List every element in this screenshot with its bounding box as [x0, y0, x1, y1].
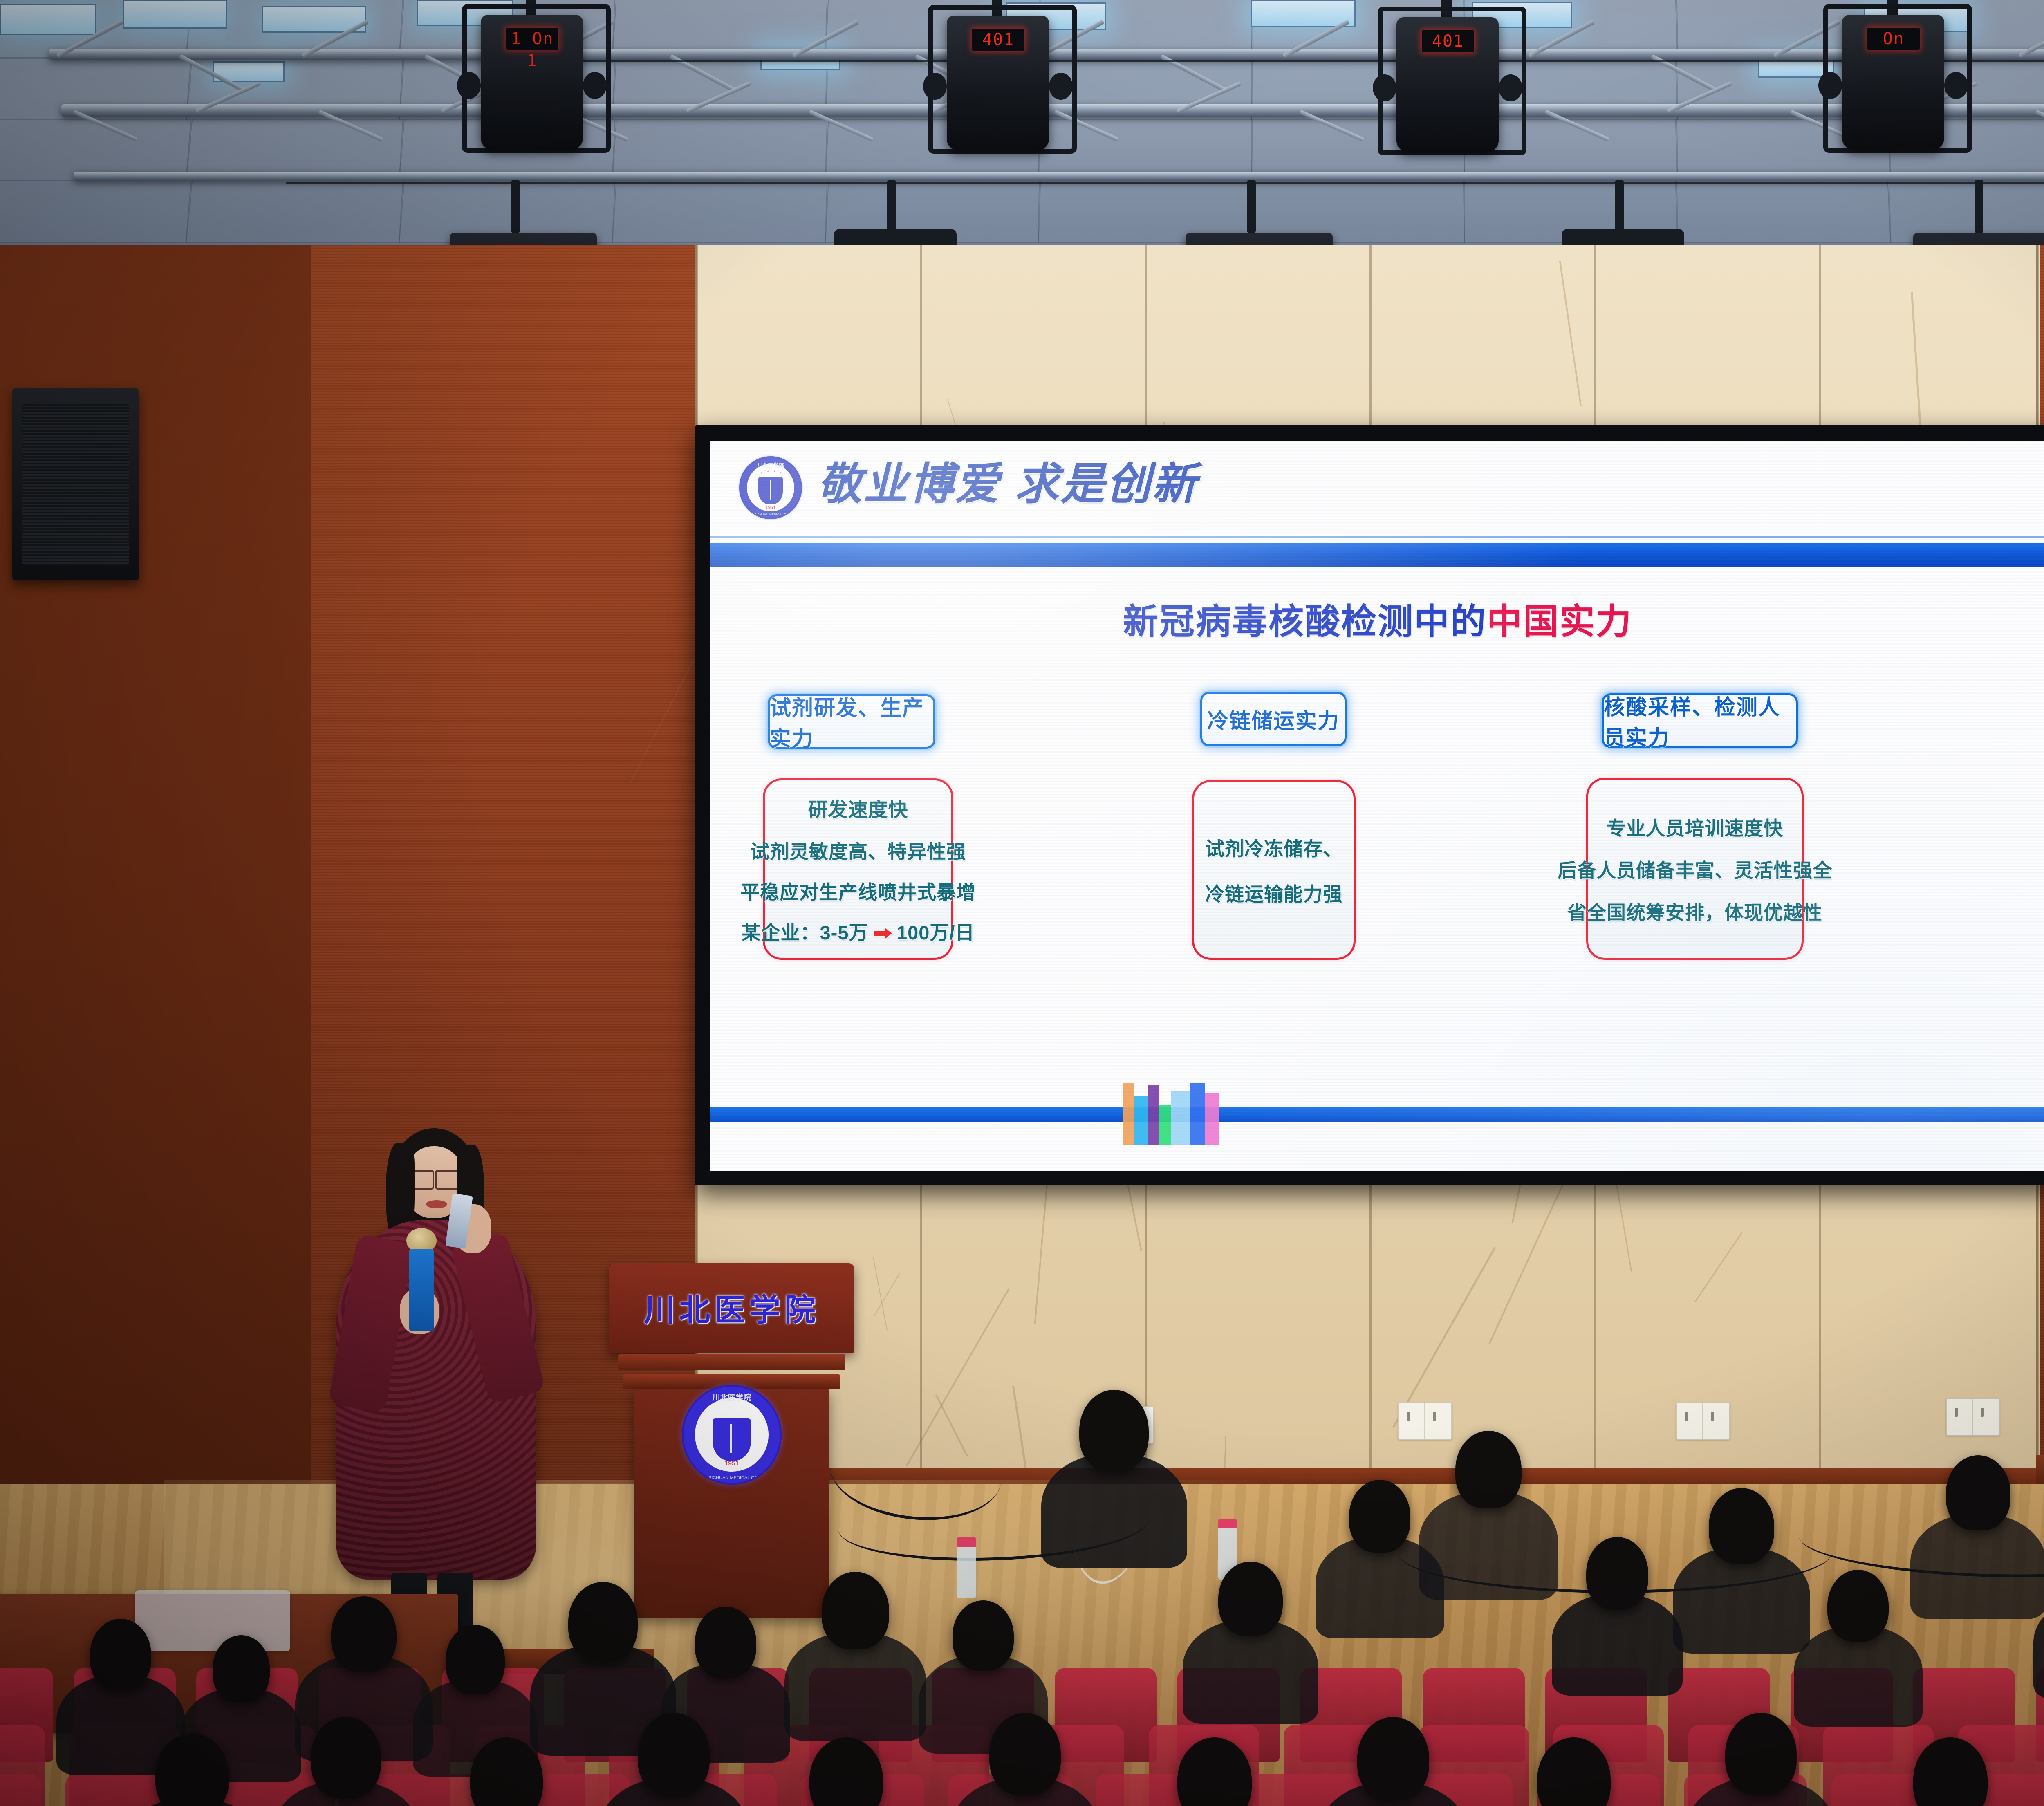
- fixture-pivot: [583, 72, 607, 99]
- audience-head: [1725, 1713, 1797, 1795]
- fixture-pivot: [923, 73, 947, 100]
- audience-head: [1455, 1431, 1522, 1508]
- audience-head: [822, 1572, 889, 1649]
- audience-head: [1586, 1537, 1648, 1610]
- outlet-slot: [1955, 1408, 1958, 1417]
- footer-color-bar: [1123, 1083, 1134, 1145]
- fixture-pivot: [1499, 74, 1522, 101]
- audience-head: [1946, 1455, 2010, 1530]
- crest-name-cn: 川北医学院: [740, 461, 801, 469]
- podium-emblem: 川北医学院 1951 NORTH SICHUAN MEDICAL COLLEGE: [682, 1385, 782, 1485]
- header-rule-bold: [710, 543, 2044, 567]
- audience-head: [638, 1713, 710, 1796]
- audience-head: [213, 1635, 270, 1703]
- slide-title-highlight: 中国实力: [1487, 602, 1632, 641]
- footer-rule: [710, 1107, 2044, 1122]
- footer-color-bar: [1190, 1083, 1205, 1145]
- stage-light-fixture: 1 On 1: [446, 0, 617, 172]
- audience-seat: [1979, 1774, 2044, 1806]
- fixture-led-value: 1 On 1: [506, 28, 558, 72]
- ceiling-lamp: [123, 0, 227, 29]
- category-label-1: 试剂研发、生产实力: [770, 691, 933, 752]
- footer-color-bar: [1159, 1105, 1171, 1145]
- outlet-slot: [1685, 1412, 1688, 1421]
- fixture-led-display: 401: [972, 29, 1024, 51]
- footer-color-bar: [1205, 1093, 1219, 1145]
- crest-caduceus-icon: [770, 480, 771, 500]
- detail-box-2: 试剂冷冻储存、 冷链运输能力强: [1192, 780, 1356, 960]
- outlet-divider: [1702, 1403, 1703, 1439]
- ceiling-tile: [186, 180, 405, 243]
- presentation-slide: 川北医学院 1951 NORTH SICHUAN MEDICAL COLLEGE…: [710, 441, 2044, 1171]
- outlet-slot: [1711, 1412, 1714, 1421]
- wall-outlet: [1676, 1402, 1730, 1440]
- podium-emblem-year: 1951: [684, 1460, 780, 1468]
- audience-head: [568, 1582, 638, 1662]
- lighting-truss-lower: [74, 172, 2044, 181]
- microphone[interactable]: [409, 1249, 434, 1331]
- detail-3-line-1: 专业人员培训速度快: [1607, 813, 1783, 841]
- baseboard-right: [2036, 1455, 2044, 1488]
- category-box-2[interactable]: 冷链储运实力: [1200, 692, 1347, 746]
- audience-head: [331, 1596, 397, 1672]
- audience-head: [446, 1625, 505, 1694]
- audience-head: [1709, 1488, 1774, 1564]
- header-rule-thin: [710, 536, 2044, 538]
- detail-box-3: 专业人员培训速度快 后备人员储备丰富、灵活性强全 省全国统筹安排，体现优越性: [1586, 778, 1804, 960]
- outlet-slot: [1433, 1412, 1436, 1421]
- detail-3-line-3: 省全国统筹安排，体现优越性: [1567, 897, 1822, 925]
- outlet-slot: [1407, 1412, 1410, 1421]
- fixture-pivot: [1818, 72, 1842, 99]
- fixture-pivot: [1373, 74, 1396, 101]
- fixture-led-display: On: [1867, 28, 1920, 50]
- crest-name-en: NORTH SICHUAN MEDICAL COLLEGE: [740, 513, 801, 516]
- water-bottle-stage: [957, 1537, 976, 1598]
- wall-outlet: [1946, 1398, 2000, 1436]
- ceiling-lamp: [1251, 0, 1356, 27]
- outlet-divider: [1424, 1403, 1425, 1439]
- audience-head: [90, 1619, 151, 1690]
- podium-nameplate: 川北医学院: [609, 1263, 854, 1353]
- audience-seat: [0, 1774, 41, 1806]
- stage-light-fixture: On: [1807, 0, 1979, 172]
- fixture-hanger: [1615, 180, 1624, 233]
- footer-color-bars: [1123, 1085, 1219, 1145]
- fixture-led-value: On: [1867, 28, 1920, 50]
- fixture-led-value: 401: [1422, 30, 1474, 52]
- detail-1-line-3: 平稳应对生产线喷井式暴增: [740, 876, 976, 905]
- detail-1-line-2: 试剂灵敏度高、特异性强: [750, 836, 966, 864]
- podium-emblem-name-cn: 川北医学院: [684, 1391, 780, 1403]
- podium-lip-1: [618, 1354, 845, 1370]
- footer-color-bar: [1148, 1085, 1159, 1145]
- outlet-divider: [1972, 1399, 1973, 1435]
- fixture-pivot: [1944, 72, 1968, 99]
- fixture-hanger: [511, 180, 520, 233]
- audience-head: [1357, 1717, 1429, 1800]
- speaker-grill: [22, 404, 129, 565]
- audience-head: [953, 1600, 1014, 1671]
- presenter-lips: [426, 1200, 447, 1208]
- plastic-bag-on-table: [135, 1590, 290, 1651]
- presenter: [319, 1128, 548, 1651]
- ceiling-tile: [0, 180, 193, 243]
- wall-outlet: [1398, 1402, 1452, 1440]
- auditorium-photo: 1 On 1401401On1 On: [0, 0, 2044, 1806]
- fixture-led-value: 401: [972, 29, 1024, 51]
- fixture-pivot: [457, 72, 481, 99]
- crest-year: 1951: [740, 505, 801, 510]
- fixture-hanger: [1975, 180, 1983, 233]
- detail-3-line-2: 后备人员储备丰富、灵活性强全: [1558, 855, 1832, 883]
- audience-head: [1349, 1480, 1410, 1553]
- footer-color-bar: [1171, 1091, 1190, 1145]
- detail-1-line-1: 研发速度快: [808, 793, 908, 822]
- slide-motto: 敬业博爱 求是创新: [818, 462, 1198, 506]
- detail-box-1: 研发速度快 试剂灵敏度高、特异性强 平稳应对生产线喷井式暴增 某企业：3-5万 …: [763, 778, 953, 960]
- wall-speaker-left: [12, 388, 139, 580]
- slide-title: 新冠病毒核酸检测中的中国实力: [710, 593, 2044, 644]
- detail-2-line-2: 冷链运输能力强: [1205, 878, 1342, 907]
- audience-head: [1079, 1390, 1149, 1472]
- footer-color-bar: [1134, 1096, 1148, 1145]
- fixture-hanger: [887, 180, 896, 233]
- category-box-1[interactable]: 试剂研发、生产实力: [768, 694, 935, 749]
- detail-2-line-1: 试剂冷冻储存、: [1205, 833, 1342, 861]
- audience-head: [695, 1607, 756, 1678]
- stage-light-fixture: 401: [912, 0, 1083, 173]
- audience-head: [1827, 1570, 1889, 1642]
- north-sichuan-medical-college-crest: 川北医学院 1951 NORTH SICHUAN MEDICAL COLLEGE: [739, 456, 802, 519]
- audience-head: [311, 1717, 381, 1799]
- slide-title-lead: 新冠病毒核酸检测中的: [1123, 602, 1487, 641]
- detail-1-stat-label: 某企业：: [742, 922, 820, 943]
- detail-1-stat-to: 100万/日: [896, 922, 975, 943]
- ceiling-lamp: [0, 4, 96, 35]
- ceiling-tile: [612, 180, 829, 243]
- podium-emblem-name-en: NORTH SICHUAN MEDICAL COLLEGE: [684, 1475, 780, 1480]
- truss-cable-run-2: [286, 182, 2044, 184]
- detail-1-stat: 某企业：3-5万 ➡ 100万/日: [742, 917, 975, 945]
- outlet-slot: [1981, 1408, 1984, 1417]
- fixture-led-display: 1 On 1: [506, 28, 558, 50]
- category-box-3[interactable]: 核酸采样、检测人员实力: [1602, 693, 1798, 748]
- audience-head: [989, 1713, 1061, 1795]
- podium-institution-text: 川北医学院: [609, 1285, 854, 1330]
- fixture-led-display: 401: [1422, 30, 1474, 52]
- fixture-pivot: [1049, 73, 1073, 100]
- category-label-3: 核酸采样、检测人员实力: [1604, 690, 1796, 751]
- category-label-2: 冷链储运实力: [1207, 704, 1340, 735]
- detail-1-stat-from: 3-5万: [820, 922, 869, 943]
- fixture-hanger: [1247, 180, 1256, 233]
- audience-head: [1218, 1562, 1283, 1636]
- arrow-right-icon: ➡: [872, 921, 892, 944]
- stage-light-fixture: 401: [1361, 0, 1533, 174]
- podium-emblem-caduceus-icon: [730, 1424, 732, 1453]
